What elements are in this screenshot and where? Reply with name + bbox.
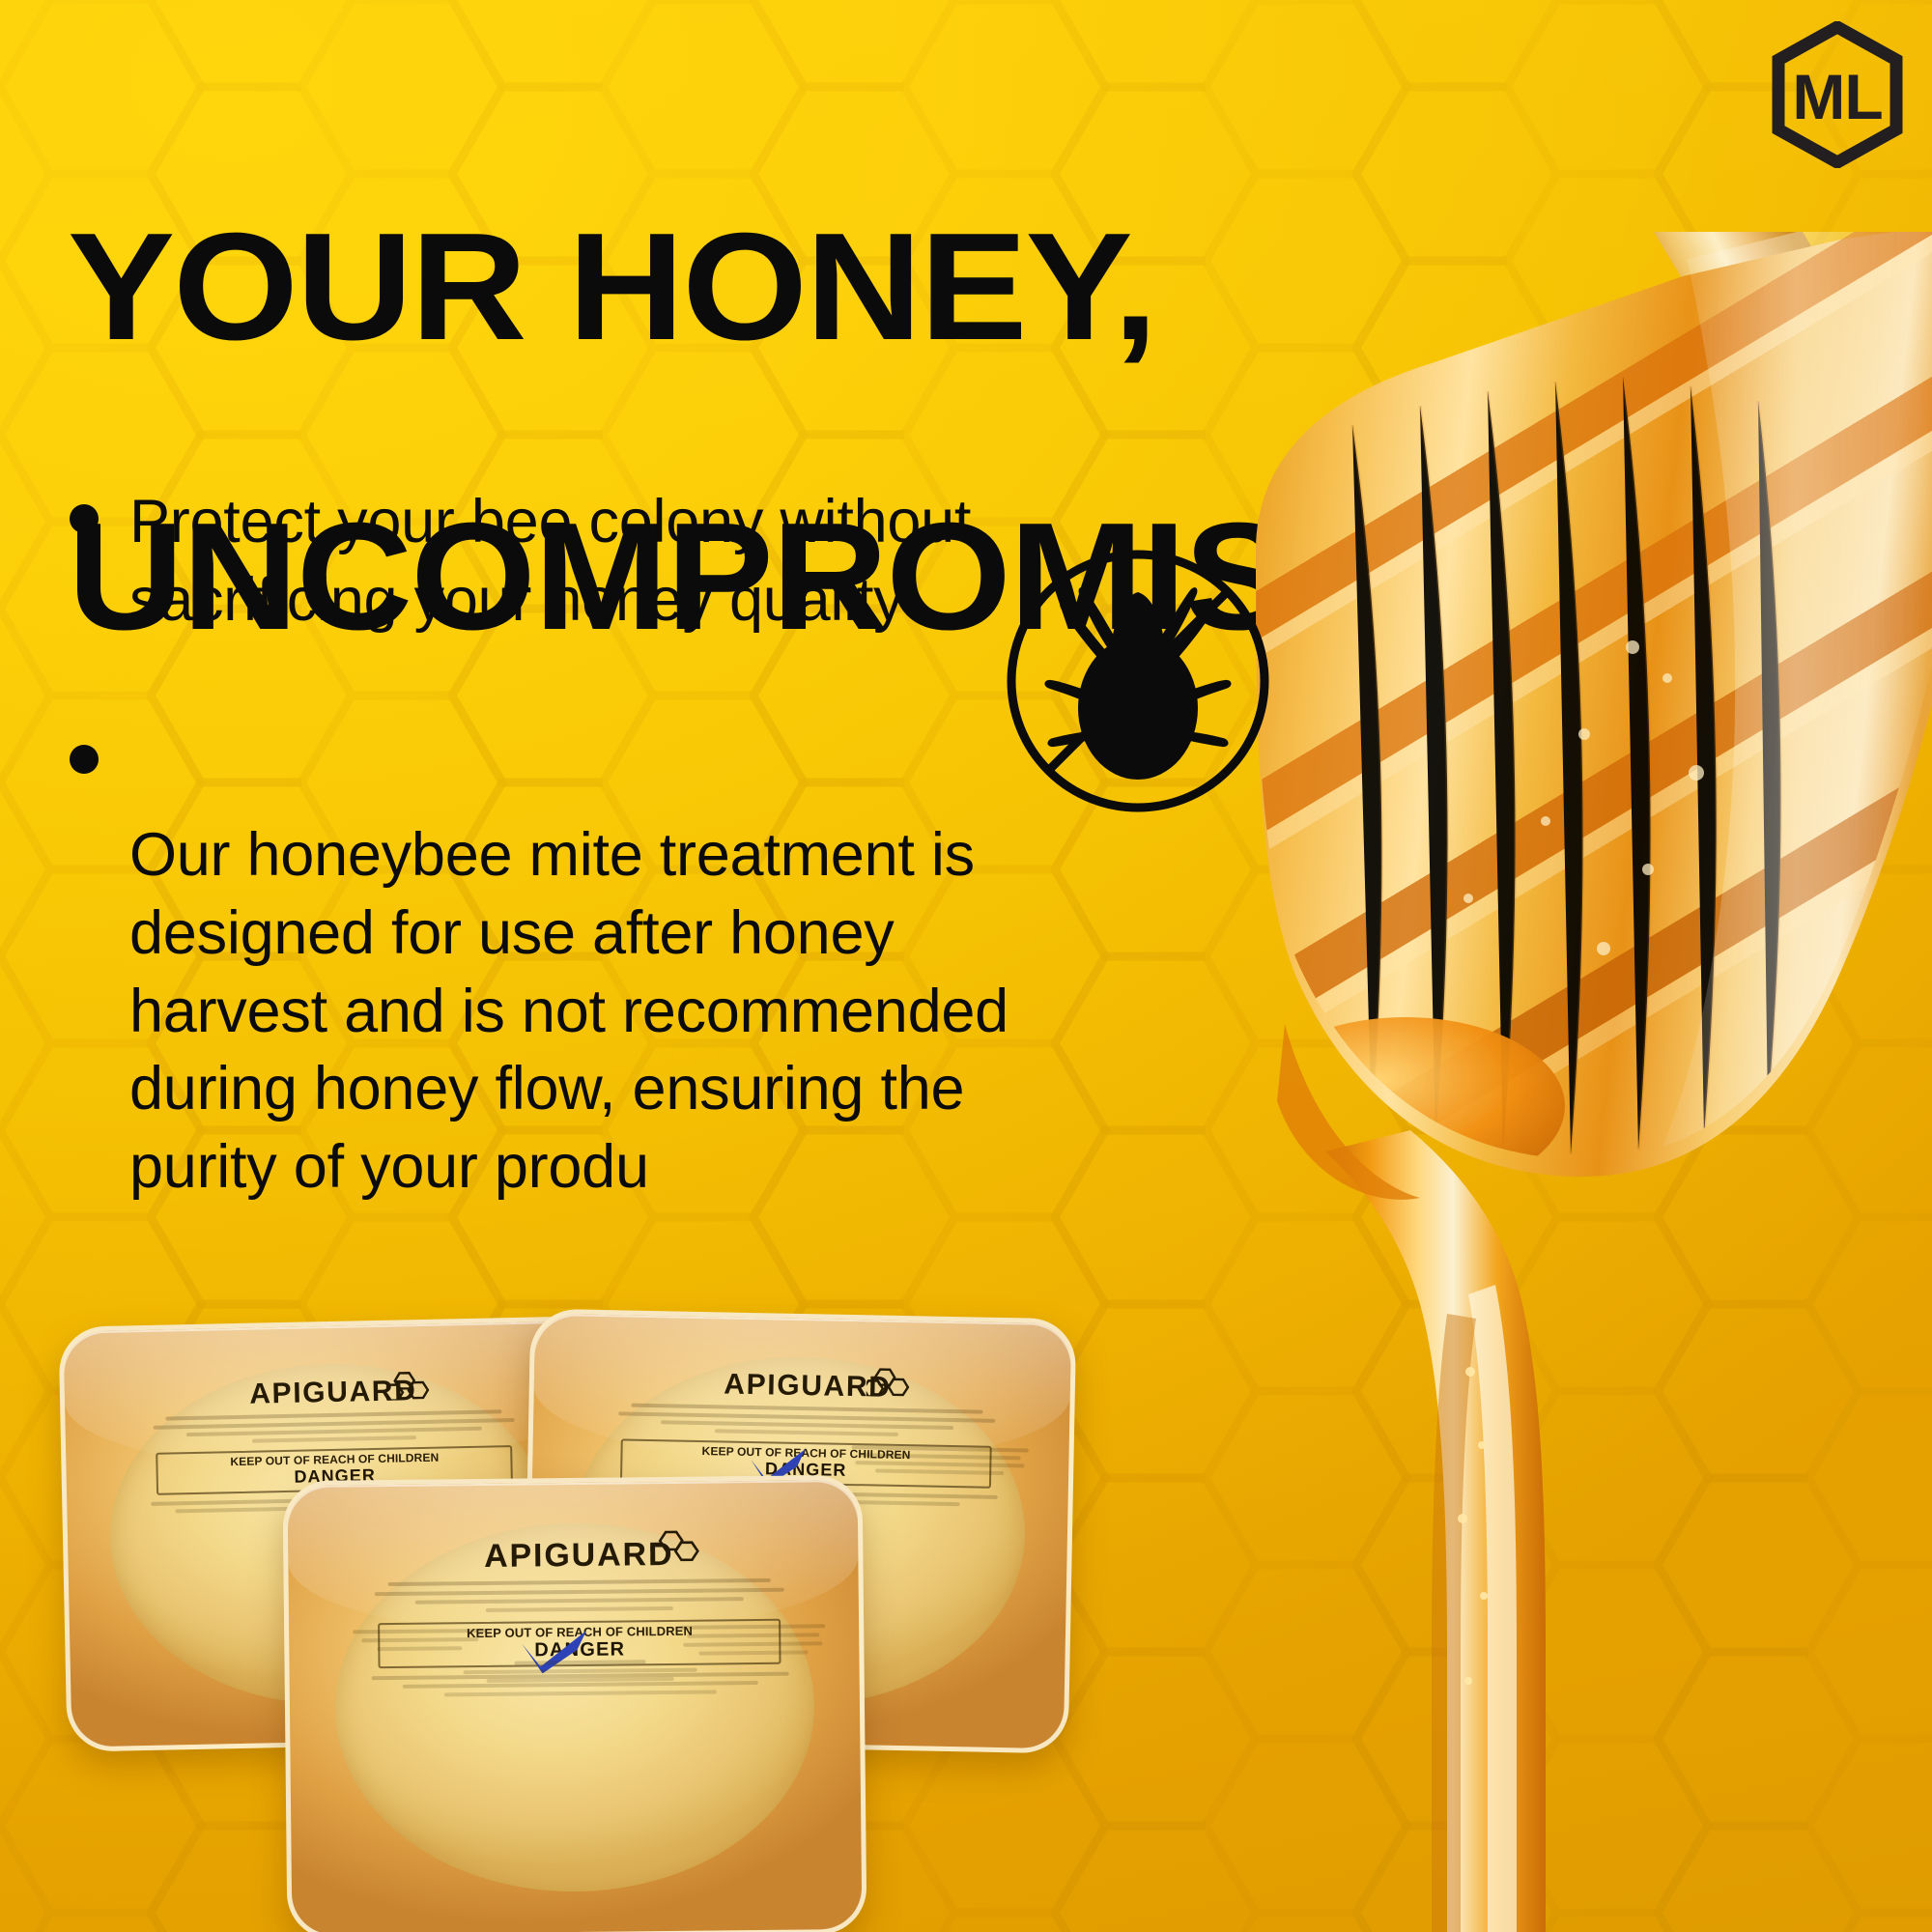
honeycomb-cells-icon: [386, 1370, 432, 1400]
honeycomb-cells-icon: [866, 1367, 911, 1397]
apiguard-tray: APIGUARD KEEP OUT OF REACH OF CHILDREN: [283, 1475, 867, 1932]
headline-line-1: YOUR HONEY,: [68, 214, 1902, 359]
list-item: Protect your bee colony without sacrific…: [70, 483, 1045, 639]
bullet-text: Protect your bee colony without sacrific…: [129, 483, 1045, 639]
bullet-dot-icon: [70, 504, 99, 533]
honeycomb-cells-icon: [650, 1529, 700, 1563]
apiguard-brand: APIGUARD: [484, 1536, 674, 1576]
apiguard-product-photo: APIGUARD KEEP OUT OF REACH OF CHILDREN: [53, 1314, 1193, 1932]
bullet-dot-icon: [70, 745, 99, 774]
poster-canvas: ML YOUR HONEY, UNCOMPROMISED: [0, 0, 1932, 1932]
bullet-list: Protect your bee colony without sacrific…: [70, 483, 1045, 1206]
bullet-text: Our honeybee mite treatment is designed …: [129, 727, 1045, 1206]
list-item: Our honeybee mite treatment is designed …: [70, 727, 1045, 1206]
